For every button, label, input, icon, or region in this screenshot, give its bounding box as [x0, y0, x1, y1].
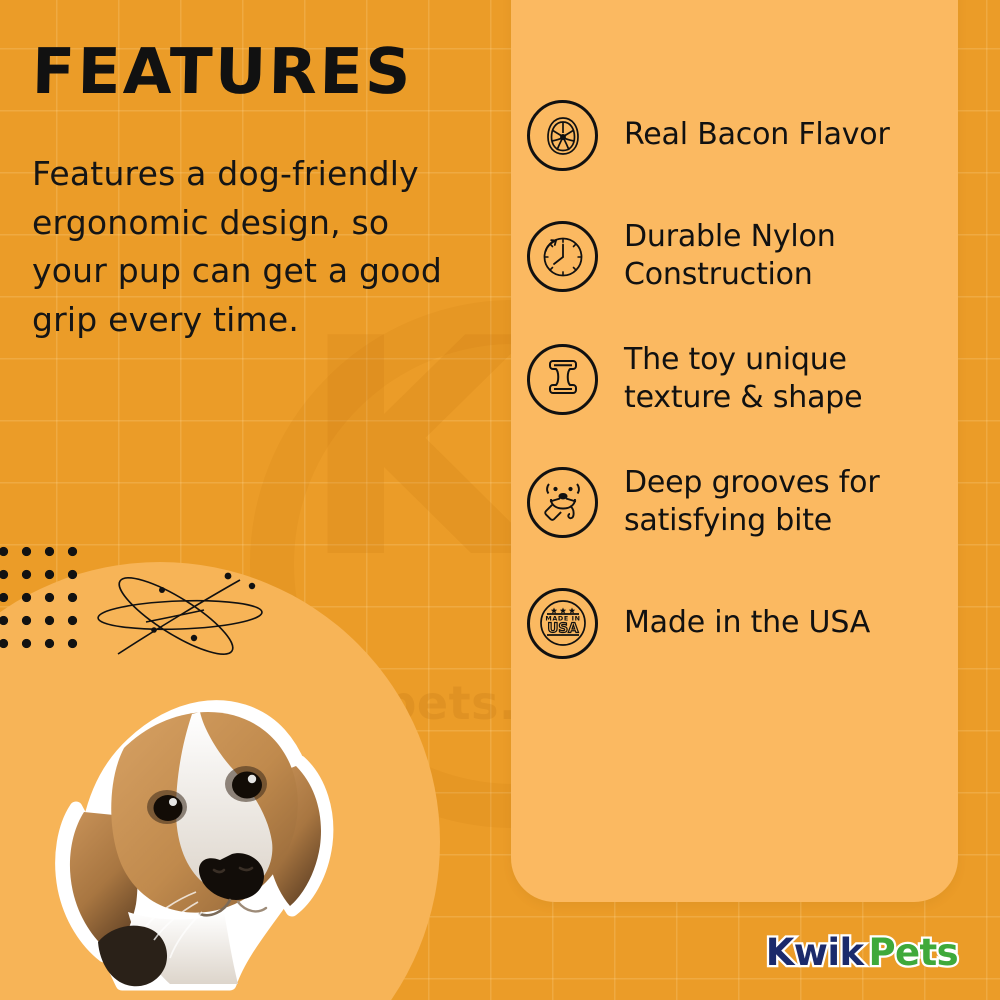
list-item-label: The toy unique texture & shape [624, 341, 957, 417]
made-in-usa-badge-icon: MADE IN USA [527, 588, 598, 659]
bacon-strip-icon [527, 100, 598, 171]
page-title: FEATURES [31, 40, 413, 103]
list-item-label: Made in the USA [624, 604, 870, 642]
list-item[interactable]: The toy unique texture & shape [527, 341, 957, 417]
brand-word-kwik: Kwik [766, 931, 864, 974]
clock-icon [527, 221, 598, 292]
dog-face-chew-toy-icon [527, 467, 598, 538]
brand-word-pets: Pets [868, 931, 958, 974]
list-item[interactable]: Deep grooves for satisfying bite [527, 464, 957, 540]
beagle-dog-photo [24, 612, 354, 1000]
description-text: Features a dog-friendly ergonomic design… [32, 150, 462, 344]
list-item-label: Real Bacon Flavor [624, 116, 890, 154]
badge-usa-text: USA [547, 620, 579, 636]
list-item[interactable]: Real Bacon Flavor [527, 100, 957, 171]
product-feature-poster: KP www.kwikpets.com FEATURES Features a … [0, 0, 1000, 1000]
list-item[interactable]: Durable Nylon Construction [527, 218, 957, 294]
brand-logo[interactable]: KwikPets [766, 931, 958, 974]
features-list: Real Bacon Flavor Dura [527, 100, 957, 659]
list-item-label: Durable Nylon Construction [624, 218, 957, 294]
list-item[interactable]: MADE IN USA Made in the USA [527, 588, 957, 659]
list-item-label: Deep grooves for satisfying bite [624, 464, 957, 540]
dog-bone-toy-icon [527, 344, 598, 415]
